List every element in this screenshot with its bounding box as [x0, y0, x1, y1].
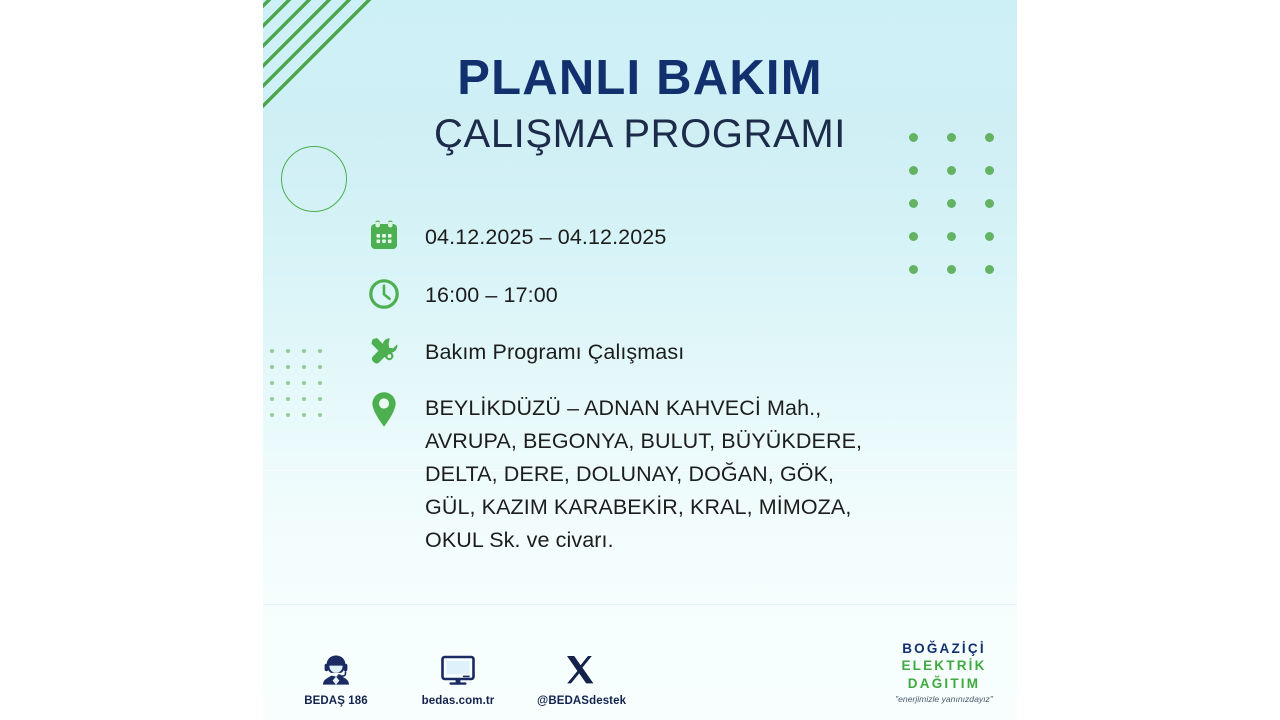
detail-row-date: 04.12.2025 – 04.12.2025	[367, 218, 987, 254]
detail-row-time: 16:00 – 17:00	[367, 276, 987, 312]
brand-line-bogazici: BOĞAZİÇİ	[889, 640, 999, 657]
page-subtitle: ÇALIŞMA PROGRAMI	[263, 111, 1017, 157]
clock-icon	[367, 276, 425, 311]
contact-website[interactable]: bedas.com.tr	[415, 648, 501, 707]
address-line: OKUL Sk. ve civarı.	[425, 524, 862, 557]
address-line: GÜL, KAZIM KARABEKİR, KRAL, MİMOZA,	[425, 491, 862, 524]
contact-social[interactable]: @BEDASdestek	[537, 648, 623, 707]
footer-contacts: BEDAŞ 186 bedas.com.tr	[293, 648, 623, 707]
x-social-icon	[537, 648, 623, 690]
time-range-text: 16:00 – 17:00	[425, 276, 558, 312]
detail-row-work-type: Bakım Programı Çalışması	[367, 333, 987, 369]
maintenance-notice-poster: PLANLI BAKIM ÇALIŞMA PROGRAMI	[263, 0, 1017, 720]
brand-line-elektrik: ELEKTRİK	[889, 657, 999, 674]
brand-line-dagitim: DAĞITIM	[889, 675, 999, 692]
map-pin-icon	[367, 389, 425, 430]
contact-phone[interactable]: BEDAŞ 186	[293, 648, 379, 707]
calendar-icon	[367, 218, 425, 253]
location-text: BEYLİKDÜZÜ – ADNAN KAHVECİ Mah., AVRUPA,…	[425, 389, 862, 556]
background-band	[263, 604, 1017, 605]
call-center-agent-icon	[293, 648, 379, 690]
address-line: DELTA, DERE, DOLUNAY, DOĞAN, GÖK,	[425, 458, 862, 491]
dot-grid-decoration-left	[270, 349, 334, 429]
brand-logo: BOĞAZİÇİ ELEKTRİK DAĞITIM "enerjimizle y…	[889, 640, 999, 704]
detail-row-location: BEYLİKDÜZÜ – ADNAN KAHVECİ Mah., AVRUPA,…	[367, 389, 987, 556]
screenshot-root: PLANLI BAKIM ÇALIŞMA PROGRAMI	[0, 0, 1280, 720]
address-line: AVRUPA, BEGONYA, BULUT, BÜYÜKDERE,	[425, 425, 862, 458]
date-range-text: 04.12.2025 – 04.12.2025	[425, 218, 666, 254]
page-title: PLANLI BAKIM	[263, 52, 1017, 105]
brand-tagline: "enerjimizle yanınızdayız"	[889, 694, 999, 704]
address-line: BEYLİKDÜZÜ – ADNAN KAHVECİ Mah.,	[425, 392, 862, 425]
monitor-icon	[415, 648, 501, 690]
poster-heading: PLANLI BAKIM ÇALIŞMA PROGRAMI	[263, 52, 1017, 157]
notice-details: 04.12.2025 – 04.12.2025 16:00 – 17:00	[367, 218, 987, 556]
contact-website-label: bedas.com.tr	[415, 695, 501, 707]
contact-social-label: @BEDASdestek	[537, 695, 623, 707]
work-type-text: Bakım Programı Çalışması	[425, 333, 684, 369]
tools-icon	[367, 333, 425, 368]
contact-phone-label: BEDAŞ 186	[293, 695, 379, 707]
